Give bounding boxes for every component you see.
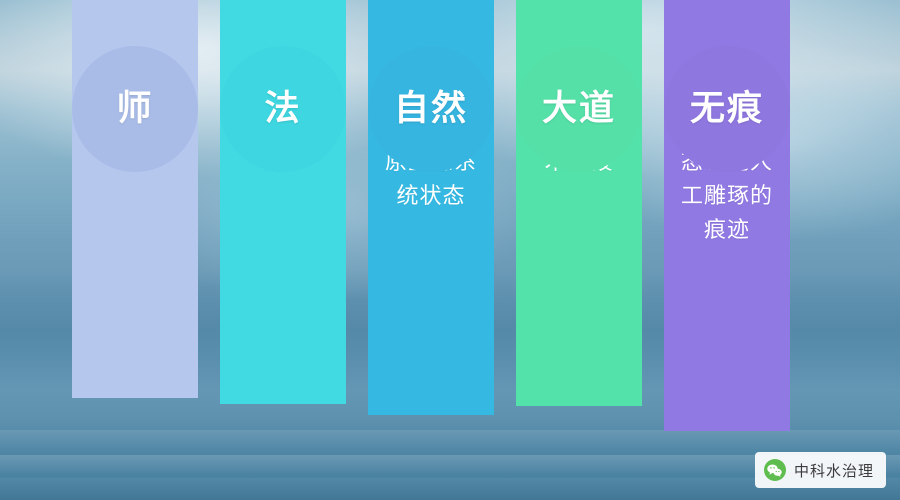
wechat-watermark[interactable]: 中科水治理 [755, 452, 886, 488]
wechat-icon [764, 459, 786, 481]
pillar-title-5: 无痕 [690, 92, 764, 127]
pillar-head-2: 法 [220, 46, 346, 172]
pillar-title-4: 大道 [542, 92, 616, 127]
pillar-column-5[interactable]: 一种天然生态的状态、无人工雕琢的痕迹 无痕 [664, 46, 790, 431]
pillar-column-3[interactable]: 未被干扰破坏过的原生态系统状态 自然 [368, 46, 494, 415]
pillar-head-5: 无痕 [664, 46, 790, 172]
pillar-head-4: 大道 [516, 46, 642, 172]
pillar-head-3: 自然 [368, 46, 494, 172]
pillar-column-2[interactable]: 原理规律和方法 法 [220, 46, 346, 404]
pillar-head-1: 师 [72, 46, 198, 172]
pillar-title-1: 师 [116, 92, 153, 127]
pillar-title-2: 法 [264, 92, 301, 127]
watermark-label: 中科水治理 [794, 460, 874, 481]
pillar-title-3: 自然 [394, 92, 468, 127]
water-band-1 [0, 430, 900, 454]
pillar-column-1[interactable]: 学习和模仿 师 [72, 46, 198, 398]
pillar-column-4[interactable]: 先进优秀的工程技术手段 大道 [516, 46, 642, 406]
slide-canvas: 学习和模仿 师 原理规律和方法 法 未被干扰破坏过的原生态系统状态 自然 先进优… [0, 0, 900, 500]
